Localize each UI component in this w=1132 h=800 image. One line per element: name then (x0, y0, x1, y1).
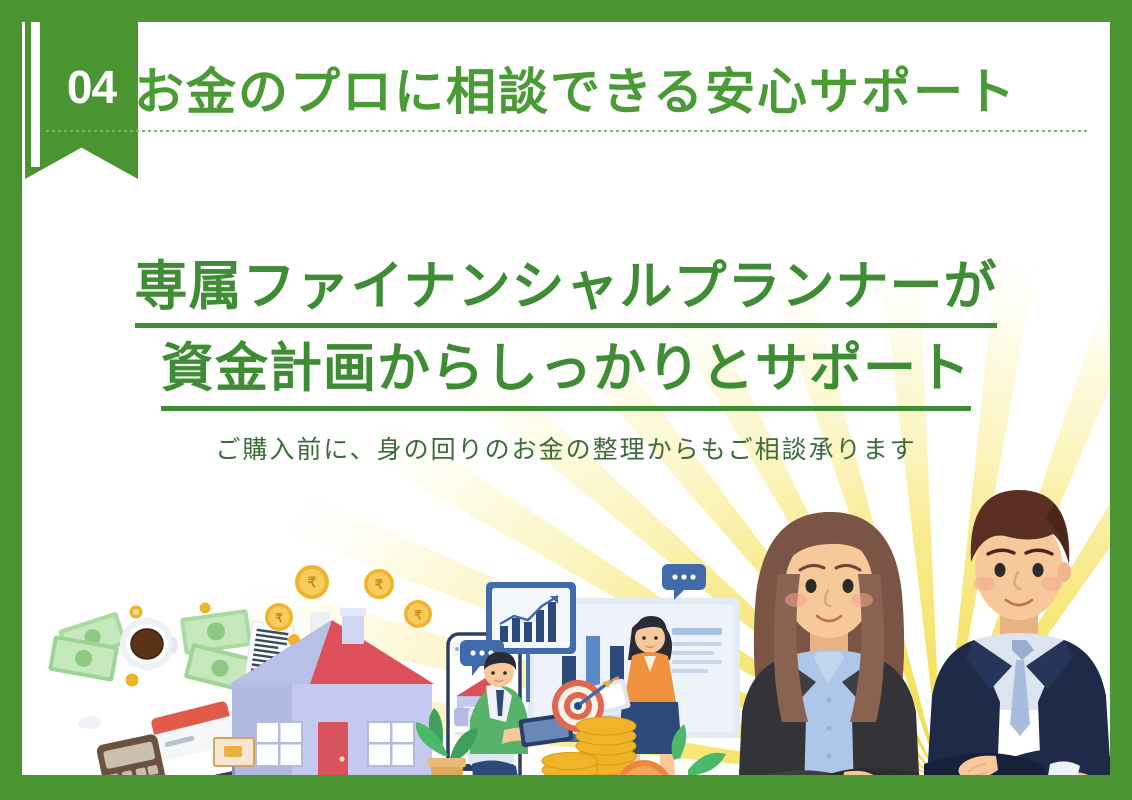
dollar-coin-symbol: $ (637, 773, 652, 775)
coffee-cup (120, 618, 175, 670)
svg-text:₹: ₹ (308, 574, 317, 590)
header-divider (46, 130, 1088, 132)
speech-bubble-right (662, 564, 706, 600)
svg-text:₹: ₹ (375, 577, 384, 592)
headline: 専属ファイナンシャルプランナーが 資金計画からしっかりとサポート (22, 252, 1110, 411)
illustration-strip: ₹ ₹ ₹ ₹ (22, 452, 1110, 775)
female-professional (734, 512, 924, 775)
headline-line-2: 資金計画からしっかりとサポート (161, 334, 971, 410)
headline-row-2: 資金計画からしっかりとサポート (22, 334, 1110, 410)
male-professional (922, 490, 1110, 775)
headline-line-1: 専属ファイナンシャルプランナーが (135, 252, 998, 328)
illustration-svg: ₹ ₹ ₹ ₹ (22, 452, 1110, 775)
page-title: お金のプロに相談できる安心サポート (134, 52, 1094, 132)
svg-text:₹: ₹ (414, 608, 422, 622)
svg-text:₹: ₹ (275, 611, 283, 625)
section-number: 04 (25, 22, 138, 152)
slide-root: 04 お金のプロに相談できる安心サポート 専属ファイナンシャルプランナーが 資金… (0, 0, 1132, 800)
headline-row-1: 専属ファイナンシャルプランナーが (22, 252, 1110, 328)
business-professionals-scene (734, 490, 1110, 775)
slide-card: 04 お金のプロに相談できる安心サポート 専属ファイナンシャルプランナーが 資金… (22, 22, 1110, 775)
